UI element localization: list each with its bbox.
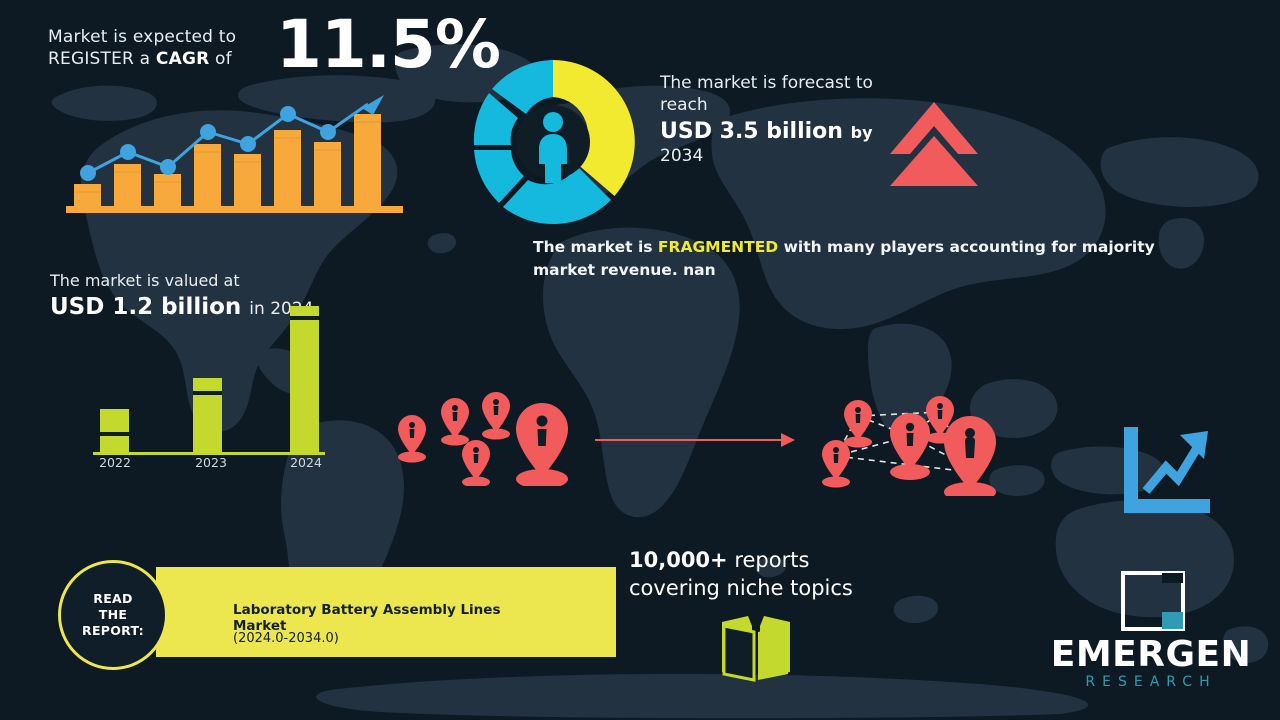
forecast-value-text: USD 3.5 billion by [660, 118, 890, 146]
market-growth-trend-chart [62, 82, 407, 217]
fragmentation-pre: The market is [533, 238, 658, 256]
reports-count-number: 10,000+ [629, 548, 728, 572]
forecast-amount: USD 3.5 billion [660, 119, 843, 144]
forecast-year: 2034 [660, 146, 890, 167]
bar-2022 [100, 409, 129, 454]
map-pin-person-icon [844, 400, 872, 448]
map-pin-person-icon [890, 413, 930, 480]
read-report-label: READ THE REPORT: [82, 591, 144, 639]
report-year-range: (2024.0-2034.0) [233, 631, 339, 646]
growth-chart-arrow-icon [1118, 425, 1213, 517]
connected-market-pins [812, 388, 1007, 496]
read-report-line1: READ [82, 591, 144, 607]
bar-label-2022: 2022 [85, 455, 145, 470]
read-report-circle[interactable]: READ THE REPORT: [58, 560, 168, 670]
value-bars [100, 306, 319, 454]
double-up-arrow-icon [886, 96, 982, 188]
report-title: Laboratory Battery Assembly Lines Market [233, 602, 558, 634]
chart-baseline [66, 206, 403, 213]
logo-square-icon [1120, 570, 1186, 632]
cagr-block: Market is expected to REGISTER a CAGR of… [48, 20, 468, 70]
infographic-canvas: Market is expected to REGISTER a CAGR of… [0, 0, 1280, 720]
bar-label-2023: 2023 [181, 455, 241, 470]
reports-count-block: 10,000+ reports covering niche topics [629, 546, 929, 602]
cagr-lead-line2: REGISTER a CAGR of [48, 48, 263, 70]
map-pin-person-icon [944, 416, 996, 496]
valuation-lead-text: The market is valued at [50, 270, 350, 292]
scattered-market-pins [385, 388, 580, 486]
fragmentation-highlight: FRAGMENTED [658, 238, 778, 256]
cagr-lead-text: Market is expected to REGISTER a CAGR of [48, 20, 263, 70]
market-value-by-year-chart [75, 295, 345, 475]
forecast-lead-text: The market is forecast to reach [660, 72, 890, 116]
bar-label-2024: 2024 [276, 455, 336, 470]
reports-count-suffix: reports [728, 548, 810, 572]
forecast-block: The market is forecast to reach USD 3.5 … [660, 72, 890, 167]
cagr-keyword: CAGR [156, 49, 209, 69]
reports-count-line2: covering niche topics [629, 574, 929, 602]
reports-count-line1: 10,000+ reports [629, 546, 929, 574]
cagr-lead-post: of [209, 49, 231, 69]
open-book-icon [718, 612, 794, 682]
cagr-lead-line1: Market is expected to [48, 26, 263, 48]
logo-wordmark: EMERGEN [1046, 636, 1256, 674]
read-report-badge[interactable]: Laboratory Battery Assembly Lines Market… [58, 560, 558, 660]
forecast-by-word: by [851, 123, 873, 142]
bar-2024 [290, 306, 319, 454]
read-report-line3: REPORT: [82, 623, 144, 639]
read-report-line2: THE [82, 607, 144, 623]
map-pin-person-icon [822, 440, 850, 488]
map-pin-person-icon [516, 403, 568, 486]
market-share-donut-chart [463, 52, 643, 232]
logo-subtitle: RESEARCH [1046, 674, 1256, 690]
map-pin-person-icon [398, 415, 426, 463]
bar-2023 [193, 378, 222, 454]
map-pin-person-icon [482, 392, 510, 440]
map-pin-person-icon [441, 398, 469, 446]
map-pin-person-icon [462, 440, 490, 486]
fragmentation-statement: The market is FRAGMENTED with many playe… [533, 236, 1205, 282]
emergen-research-logo: EMERGEN RESEARCH [1046, 570, 1256, 700]
cagr-lead-pre: REGISTER a [48, 49, 156, 69]
right-arrow-icon [595, 432, 795, 448]
